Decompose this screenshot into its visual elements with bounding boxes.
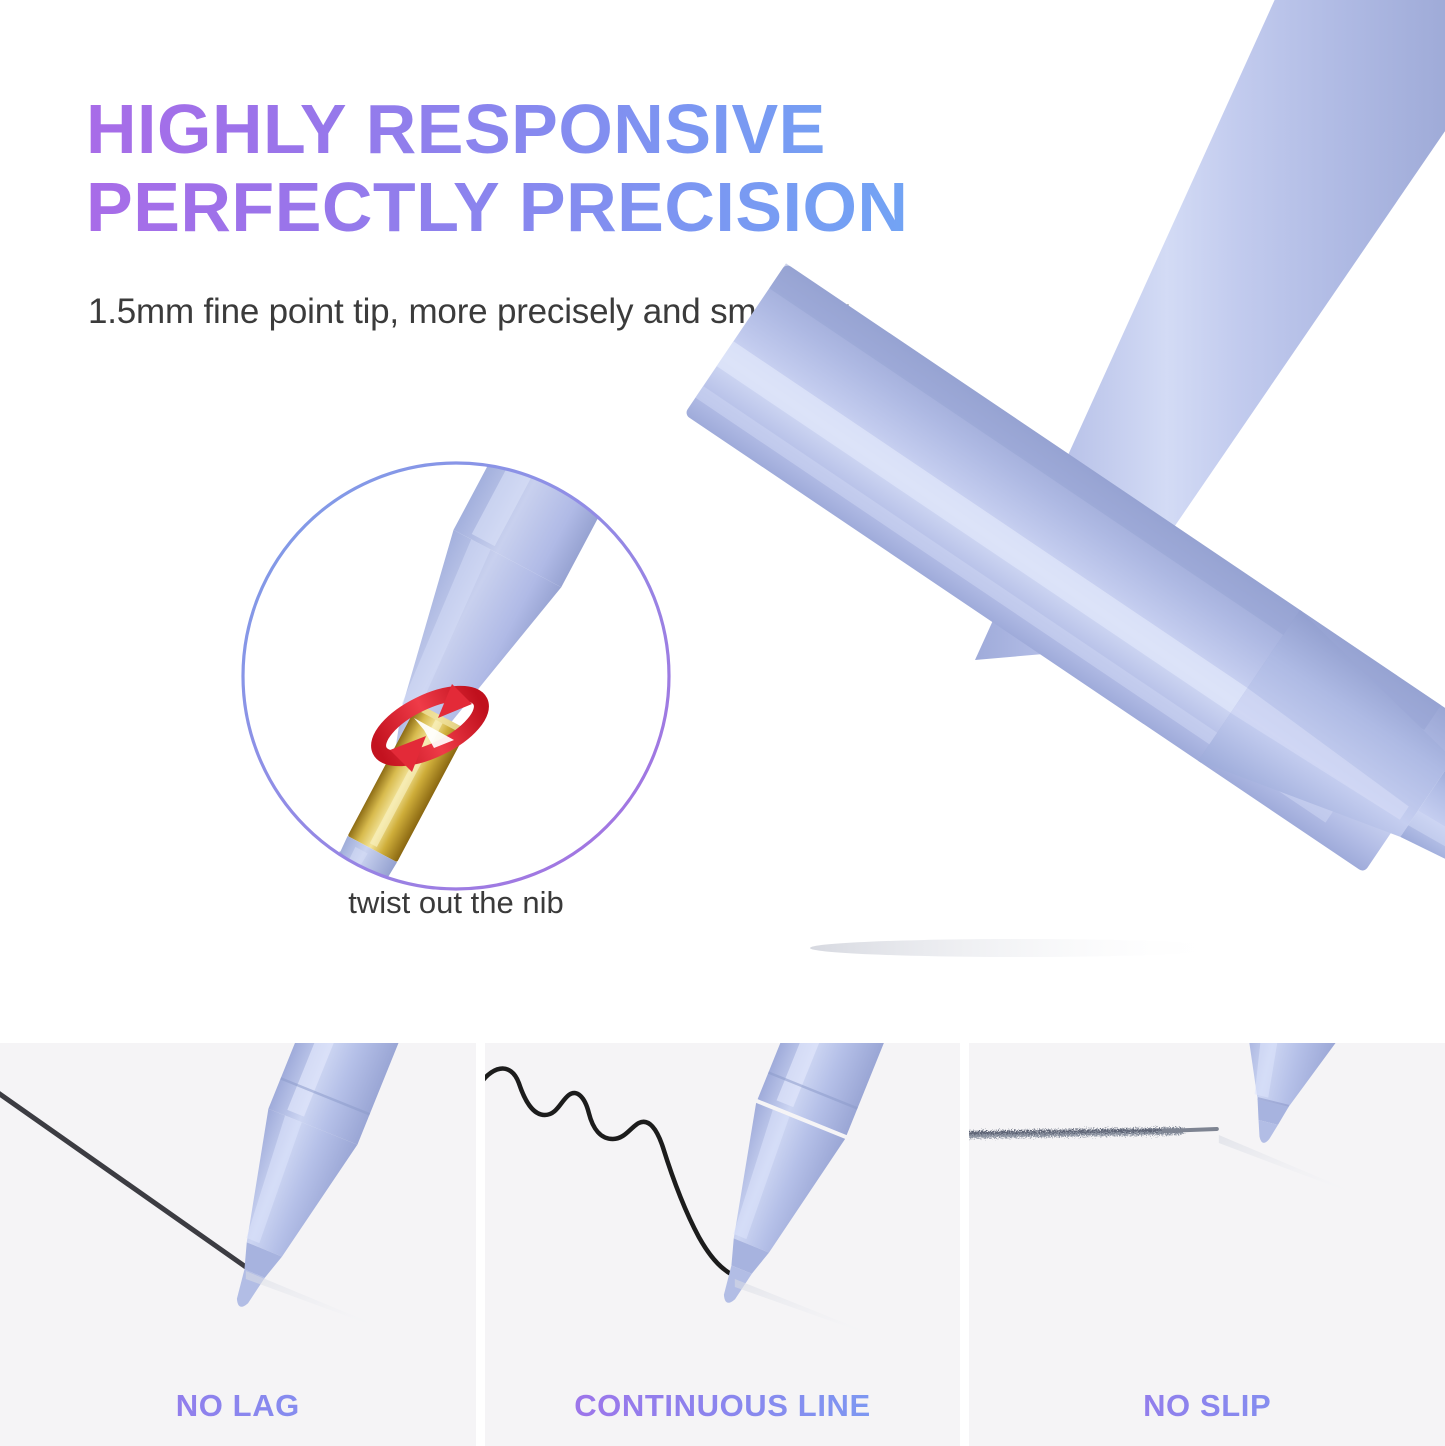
headline-block: HIGHLY RESPONSIVE PERFECTLY PRECISION	[86, 96, 986, 242]
no-lag-illustration	[0, 1043, 476, 1383]
panel-no-lag: NO LAG	[0, 1043, 476, 1446]
continuous-line-illustration	[485, 1043, 961, 1383]
panel-label-no-slip: NO SLIP	[969, 1388, 1445, 1424]
drawn-line	[969, 1130, 1181, 1135]
panel-no-slip: NO SLIP	[969, 1043, 1445, 1446]
panel-continuous-line: CONTINUOUS LINE	[485, 1043, 961, 1446]
panel-label-continuous-line: CONTINUOUS LINE	[485, 1388, 961, 1424]
panel-label-no-lag: NO LAG	[0, 1388, 476, 1424]
nib-caption: twist out the nib	[241, 885, 671, 921]
subheadline: 1.5mm fine point tip, more precisely and…	[88, 292, 855, 332]
no-slip-illustration	[969, 1043, 1445, 1383]
hero-section: HIGHLY RESPONSIVE PERFECTLY PRECISION 1.…	[0, 0, 1445, 1040]
headline-line-2: PERFECTLY PRECISION	[86, 174, 986, 242]
feature-panels: NO LAG	[0, 1043, 1445, 1446]
surface-shadow	[810, 939, 1230, 957]
headline-line-1: HIGHLY RESPONSIVE	[86, 96, 986, 164]
